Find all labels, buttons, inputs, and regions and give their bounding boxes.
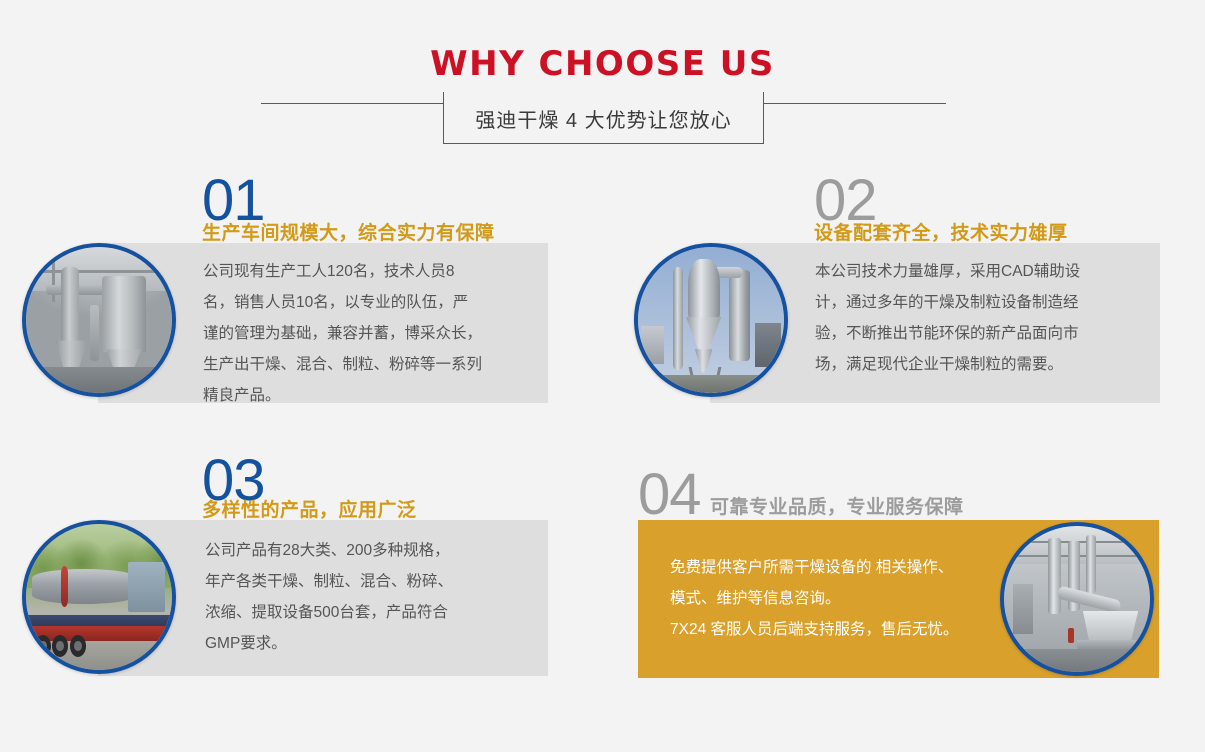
section-header: WHY CHOOSE US 强迪干燥 4 大优势让您放心 — [0, 0, 1205, 150]
card-title-04: 可靠专业品质，专业服务保障 — [710, 492, 964, 519]
header-rule-right — [764, 103, 946, 104]
photo-fluid-bed-line — [1000, 522, 1154, 676]
card-body-03: 公司产品有28大类、200多种规格， 年产各类干燥、制粒、混合、粉碎、 浓缩、提… — [205, 535, 535, 659]
photo-dryer-tower-outdoor — [634, 243, 788, 397]
photo-spray-dryer-workshop — [22, 243, 176, 397]
card-number-04: 04 — [638, 466, 701, 524]
card-title-01: 生产车间规模大，综合实力有保障 — [202, 218, 495, 245]
header-rule-left — [261, 103, 443, 104]
photo-rotary-dryer-truck — [22, 520, 176, 674]
page-title: WHY CHOOSE US — [0, 44, 1205, 84]
card-body-04: 免费提供客户所需干燥设备的 相关操作、 模式、维护等信息咨询。 7X24 客服人… — [670, 552, 1030, 645]
why-choose-us-page: WHY CHOOSE US 强迪干燥 4 大优势让您放心 01 生产车间规模大，… — [0, 0, 1205, 752]
page-subtitle: 强迪干燥 4 大优势让您放心 — [443, 92, 764, 144]
card-title-03: 多样性的产品，应用广泛 — [202, 495, 417, 522]
card-body-02: 本公司技术力量雄厚，采用CAD辅助设 计，通过多年的干燥及制粒设备制造经 验，不… — [815, 256, 1150, 380]
card-body-01: 公司现有生产工人120名，技术人员8 名，销售人员10名，以专业的队伍，严 谨的… — [203, 256, 533, 411]
card-title-02: 设备配套齐全，技术实力雄厚 — [814, 218, 1068, 245]
